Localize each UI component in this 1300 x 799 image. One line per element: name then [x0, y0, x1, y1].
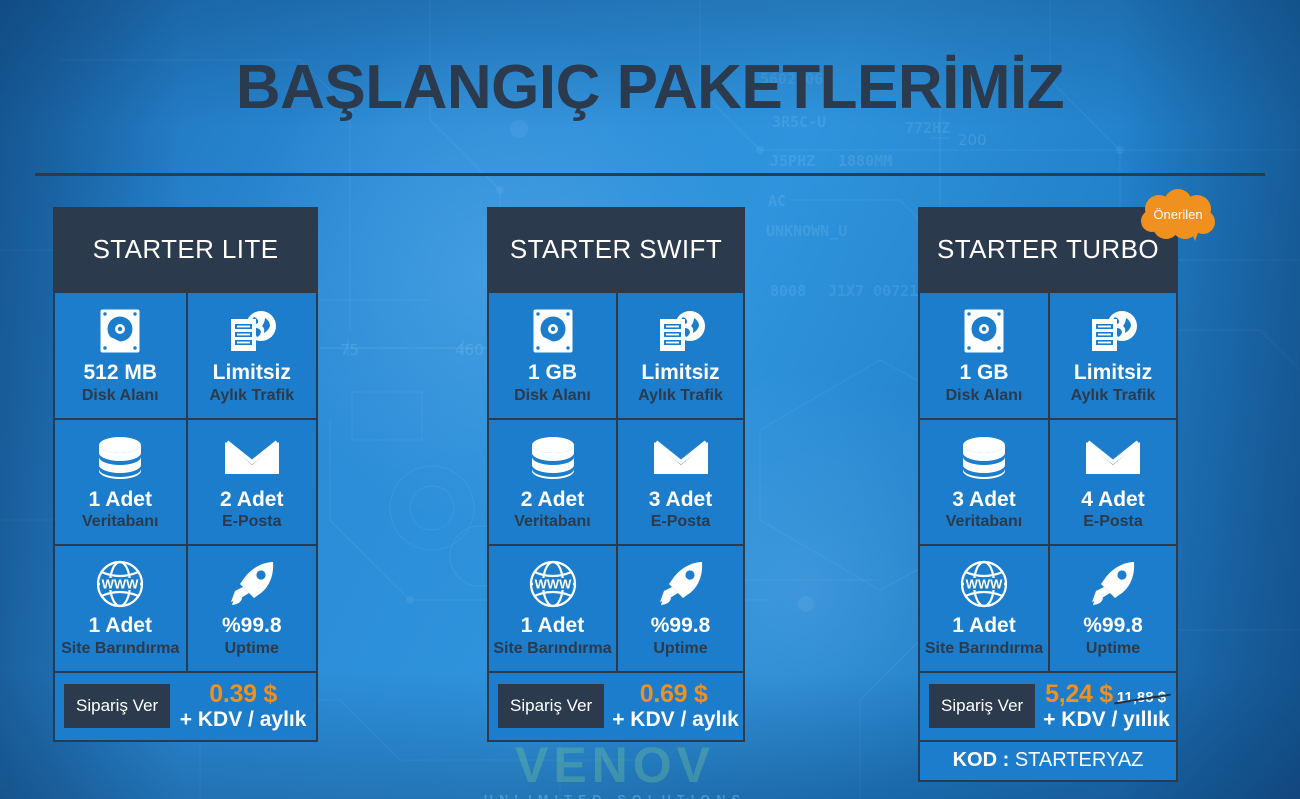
- envelope-icon: [224, 438, 280, 478]
- feature-value: 1 Adet: [59, 488, 182, 512]
- feature-value: %99.8: [192, 614, 313, 638]
- svg-text:AC: AC: [768, 192, 786, 210]
- feature-label: Site Barındırma: [59, 639, 182, 658]
- feature-cell: Limitsiz Aylık Trafik: [616, 293, 743, 418]
- feature-row: WWW 1 Adet Site Barındırma %99.8 Uptime: [55, 544, 316, 671]
- rocket-icon: [622, 560, 739, 608]
- feature-label: Uptime: [622, 639, 739, 658]
- www-globe-icon: WWW: [493, 560, 612, 608]
- price-line: 5,24 $ 11,88 $: [1043, 682, 1168, 708]
- rocket-icon: [1089, 560, 1137, 608]
- feature-value: 1 Adet: [59, 614, 182, 638]
- hard-drive-icon: [59, 307, 182, 355]
- envelope-icon: [1085, 438, 1141, 478]
- order-button[interactable]: Sipariş Ver: [929, 684, 1035, 728]
- envelope-icon: [192, 434, 313, 482]
- feature-value: Limitsiz: [1054, 361, 1172, 385]
- price-amount: 5,24 $: [1045, 682, 1113, 708]
- pricing-card: STARTER TURBO 1 GB Disk Alanı: [918, 207, 1178, 782]
- feature-label: Veritabanı: [924, 512, 1044, 531]
- feature-label: Uptime: [192, 639, 313, 658]
- feature-label: Site Barındırma: [493, 639, 612, 658]
- feature-cell: 1 Adet Veritabanı: [55, 420, 186, 545]
- envelope-icon: [653, 438, 709, 478]
- feature-label: Aylık Trafik: [622, 386, 739, 405]
- svg-text:WWW: WWW: [534, 577, 572, 592]
- www-globe-icon: WWW: [960, 560, 1008, 608]
- feature-value: Limitsiz: [192, 361, 313, 385]
- www-globe-icon: WWW: [59, 560, 182, 608]
- recommended-badge-label: Önerilen: [1139, 189, 1217, 241]
- server-globe-icon: [655, 308, 707, 354]
- feature-value: 4 Adet: [1054, 488, 1172, 512]
- hard-drive-icon: [963, 308, 1005, 354]
- feature-cell: 512 MB Disk Alanı: [55, 293, 186, 418]
- order-button[interactable]: Sipariş Ver: [498, 684, 604, 728]
- www-globe-icon: WWW: [529, 560, 577, 608]
- feature-value: 3 Adet: [622, 488, 739, 512]
- www-globe-icon: WWW: [924, 560, 1044, 608]
- server-globe-icon: [1054, 307, 1172, 355]
- feature-value: 1 Adet: [493, 614, 612, 638]
- price-note: + KDV / yıllık: [1043, 709, 1168, 730]
- rocket-icon: [192, 560, 313, 608]
- price-line: 0.69 $: [612, 682, 735, 708]
- rocket-icon: [1054, 560, 1172, 608]
- feature-label: Uptime: [1054, 639, 1172, 658]
- feature-label: Aylık Trafik: [1054, 386, 1172, 405]
- svg-text:WWW: WWW: [102, 577, 140, 592]
- price-footer: Sipariş Ver 5,24 $ 11,88 $ + KDV / yıllı…: [920, 671, 1176, 740]
- svg-text:J5PHZ: J5PHZ: [770, 152, 815, 170]
- feature-cell: 4 Adet E-Posta: [1048, 420, 1176, 545]
- pricing-card: STARTER SWIFT 1 GB Disk Alanı: [487, 207, 745, 742]
- price-block: 5,24 $ 11,88 $ + KDV / yıllık: [1043, 682, 1168, 730]
- feature-label: Aylık Trafik: [192, 386, 313, 405]
- hard-drive-icon: [99, 308, 141, 354]
- envelope-icon: [622, 434, 739, 482]
- server-globe-icon: [1087, 308, 1139, 354]
- envelope-icon: [1054, 434, 1172, 482]
- feature-value: 1 Adet: [924, 614, 1044, 638]
- feature-label: Site Barındırma: [924, 639, 1044, 658]
- server-globe-icon: [192, 307, 313, 355]
- feature-label: Disk Alanı: [493, 386, 612, 405]
- price-old: 11,88 $: [1117, 690, 1166, 705]
- svg-text:200: 200: [958, 131, 987, 149]
- feature-cell: 2 Adet E-Posta: [186, 420, 317, 545]
- feature-label: E-Posta: [1054, 512, 1172, 531]
- feature-cell: 1 GB Disk Alanı: [489, 293, 616, 418]
- feature-cell: %99.8 Uptime: [1048, 546, 1176, 671]
- feature-value: 1 GB: [493, 361, 612, 385]
- database-icon: [924, 434, 1044, 482]
- feature-cell: 2 Adet Veritabanı: [489, 420, 616, 545]
- feature-row: 1 GB Disk Alanı Li: [920, 291, 1176, 418]
- feature-row: 1 GB Disk Alanı Li: [489, 291, 743, 418]
- feature-value: 512 MB: [59, 361, 182, 385]
- www-globe-icon: WWW: [96, 560, 144, 608]
- hard-drive-icon: [532, 308, 574, 354]
- database-icon: [959, 436, 1009, 480]
- feature-row: 2 Adet Veritabanı 3 Adet E-Posta: [489, 418, 743, 545]
- server-globe-icon: [226, 308, 278, 354]
- plan-title: STARTER SWIFT: [489, 209, 743, 291]
- hard-drive-icon: [924, 307, 1044, 355]
- feature-value: 1 GB: [924, 361, 1044, 385]
- feature-value: %99.8: [622, 614, 739, 638]
- feature-value: 2 Adet: [192, 488, 313, 512]
- feature-row: WWW 1 Adet Site Barındırma %99.8 Uptime: [489, 544, 743, 671]
- feature-label: Veritabanı: [59, 512, 182, 531]
- feature-label: Disk Alanı: [59, 386, 182, 405]
- price-note: + KDV / aylık: [178, 709, 308, 730]
- feature-cell: Limitsiz Aylık Trafik: [1048, 293, 1176, 418]
- feature-row: 512 MB Disk Alanı: [55, 291, 316, 418]
- feature-cell: WWW 1 Adet Site Barındırma: [55, 546, 186, 671]
- price-line: 0.39 $: [178, 682, 308, 708]
- recommended-badge: Önerilen: [1139, 189, 1217, 241]
- svg-text:75: 75: [340, 341, 359, 359]
- promo-code-row: KOD : STARTERYAZ: [920, 740, 1176, 780]
- price-footer: Sipariş Ver 0.39 $ + KDV / aylık: [55, 671, 316, 740]
- feature-label: E-Posta: [622, 512, 739, 531]
- feature-value: 3 Adet: [924, 488, 1044, 512]
- promo-code-value: STARTERYAZ: [1015, 749, 1144, 771]
- feature-cell: WWW 1 Adet Site Barındırma: [489, 546, 616, 671]
- database-icon: [95, 436, 145, 480]
- promo-code-label: KOD :: [953, 749, 1010, 771]
- feature-label: Veritabanı: [493, 512, 612, 531]
- svg-text:1880MM: 1880MM: [838, 152, 892, 170]
- plan-title: STARTER LITE: [55, 209, 316, 291]
- feature-cell: %99.8 Uptime: [616, 546, 743, 671]
- feature-row: 1 Adet Veritabanı 2 Adet E-Posta: [55, 418, 316, 545]
- page-title: BAŞLANGIÇ PAKETLERİMİZ: [0, 52, 1300, 123]
- title-divider: [35, 173, 1265, 176]
- feature-label: E-Posta: [192, 512, 313, 531]
- feature-cell: 3 Adet E-Posta: [616, 420, 743, 545]
- rocket-icon: [228, 560, 276, 608]
- svg-text:UNKNOWN_U: UNKNOWN_U: [766, 222, 847, 240]
- price-amount: 0.69 $: [640, 682, 708, 708]
- feature-cell: 3 Adet Veritabanı: [920, 420, 1048, 545]
- hard-drive-icon: [493, 307, 612, 355]
- feature-row: 3 Adet Veritabanı 4 Adet E-Posta: [920, 418, 1176, 545]
- feature-value: Limitsiz: [622, 361, 739, 385]
- plan-title: STARTER TURBO: [920, 209, 1176, 291]
- database-icon: [59, 434, 182, 482]
- svg-text:8008: 8008: [770, 282, 806, 300]
- feature-label: Disk Alanı: [924, 386, 1044, 405]
- price-block: 0.69 $ + KDV / aylık: [612, 682, 735, 730]
- server-globe-icon: [622, 307, 739, 355]
- database-icon: [528, 436, 578, 480]
- database-icon: [493, 434, 612, 482]
- feature-value: %99.8: [1054, 614, 1172, 638]
- svg-text:460: 460: [455, 341, 484, 359]
- rocket-icon: [657, 560, 705, 608]
- feature-cell: WWW 1 Adet Site Barındırma: [920, 546, 1048, 671]
- svg-text:WWW: WWW: [966, 577, 1004, 592]
- feature-value: 2 Adet: [493, 488, 612, 512]
- price-footer: Sipariş Ver 0.69 $ + KDV / aylık: [489, 671, 743, 740]
- feature-cell: Limitsiz Aylık Trafik: [186, 293, 317, 418]
- price-amount: 0.39 $: [209, 682, 277, 708]
- order-button[interactable]: Sipariş Ver: [64, 684, 170, 728]
- price-block: 0.39 $ + KDV / aylık: [178, 682, 308, 730]
- price-note: + KDV / aylık: [612, 709, 735, 730]
- pricing-card: STARTER LITE 512 MB Disk Alanı: [53, 207, 318, 742]
- feature-row: WWW 1 Adet Site Barındırma %99.8 Uptime: [920, 544, 1176, 671]
- feature-cell: 1 GB Disk Alanı: [920, 293, 1048, 418]
- feature-cell: %99.8 Uptime: [186, 546, 317, 671]
